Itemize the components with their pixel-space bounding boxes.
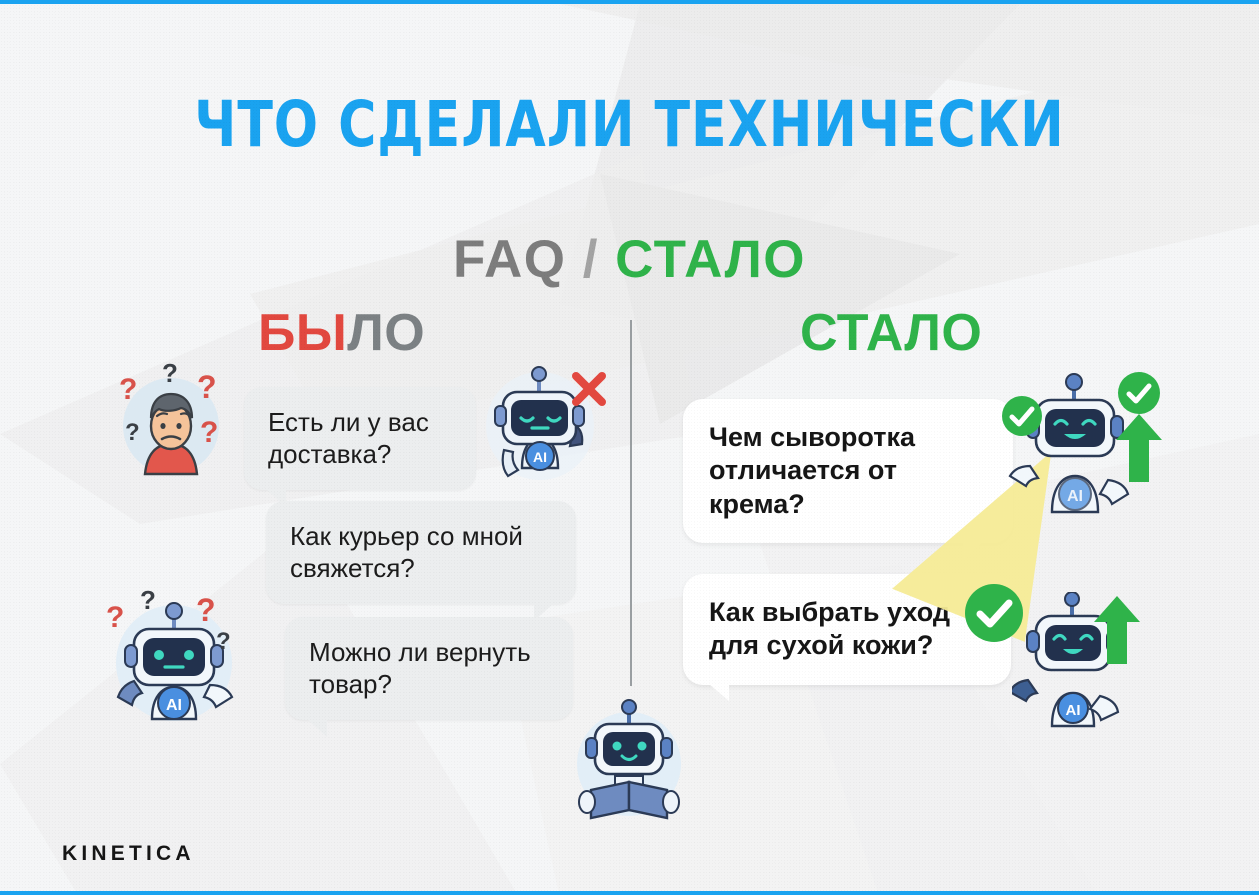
svg-text:?: ? [106, 601, 124, 634]
heading-before-part1: БЫ [258, 304, 347, 362]
bubble-tail [963, 542, 983, 559]
chat-bubble-before-2-text: Как курьер со мной свяжется? [290, 521, 554, 584]
sad-ai-robot: AI [482, 360, 612, 492]
subtitle-slash: / [583, 230, 599, 289]
chat-bubble-before-3[interactable]: Можно ли вернуть товар? [285, 617, 573, 720]
arrow-up-icon [1090, 592, 1144, 668]
bubble-tail [709, 684, 729, 701]
chat-bubble-after-2-text: Как выбрать уход для сухой кожи? [709, 596, 985, 663]
reading-ai-robot [565, 698, 693, 824]
svg-text:?: ? [140, 585, 156, 615]
page-title: ЧТО СДЕЛАЛИ ТЕХНИЧЕСКИ [50, 88, 1208, 161]
bubble-tail [307, 719, 327, 737]
svg-text:AI: AI [1066, 702, 1081, 719]
column-heading-before: БЫЛО [258, 303, 425, 363]
chat-bubble-before-3-text: Можно ли вернуть товар? [309, 637, 551, 700]
svg-text:?: ? [125, 419, 140, 446]
column-heading-after: СТАЛО [800, 303, 982, 363]
svg-text:AI: AI [166, 697, 182, 714]
cross-icon [576, 376, 602, 402]
svg-text:?: ? [197, 369, 217, 405]
chat-bubble-before-1-text: Есть ли у вас доставка? [268, 407, 454, 470]
chat-bubble-after-1[interactable]: Чем сыворотка отличается от крема? [683, 399, 1013, 543]
brand-logo: KINETICA [62, 842, 195, 866]
chat-bubble-before-1[interactable]: Есть ли у вас доставка? [244, 387, 476, 490]
check-icon [963, 582, 1025, 644]
svg-text:AI: AI [1067, 488, 1083, 505]
svg-text:?: ? [196, 592, 216, 628]
heading-before-part2: ЛО [347, 304, 425, 362]
column-divider [630, 320, 632, 686]
subtitle-stalo: СТАЛО [615, 230, 806, 289]
svg-text:?: ? [119, 373, 137, 406]
slide-root: ЧТО СДЕЛАЛИ ТЕХНИЧЕСКИ FAQ / СТАЛО БЫЛО … [0, 0, 1259, 895]
svg-text:?: ? [216, 628, 231, 655]
arrow-up-icon [1112, 410, 1166, 486]
svg-text:AI: AI [533, 449, 547, 465]
subtitle: FAQ / СТАЛО [0, 229, 1259, 290]
subtitle-faq: FAQ [453, 230, 566, 289]
chat-bubble-after-1-text: Чем сыворотка отличается от крема? [709, 421, 987, 521]
confused-ai-robot: AI ? ? ? ? [98, 577, 250, 729]
chat-bubble-after-2[interactable]: Как выбрать уход для сухой кожи? [683, 574, 1011, 685]
confused-person-avatar: ? ? ? ? ? [105, 356, 233, 484]
chat-bubble-before-2[interactable]: Как курьер со мной свяжется? [266, 501, 576, 604]
svg-text:?: ? [200, 416, 218, 449]
check-icon [1000, 394, 1044, 438]
svg-text:?: ? [162, 358, 178, 388]
